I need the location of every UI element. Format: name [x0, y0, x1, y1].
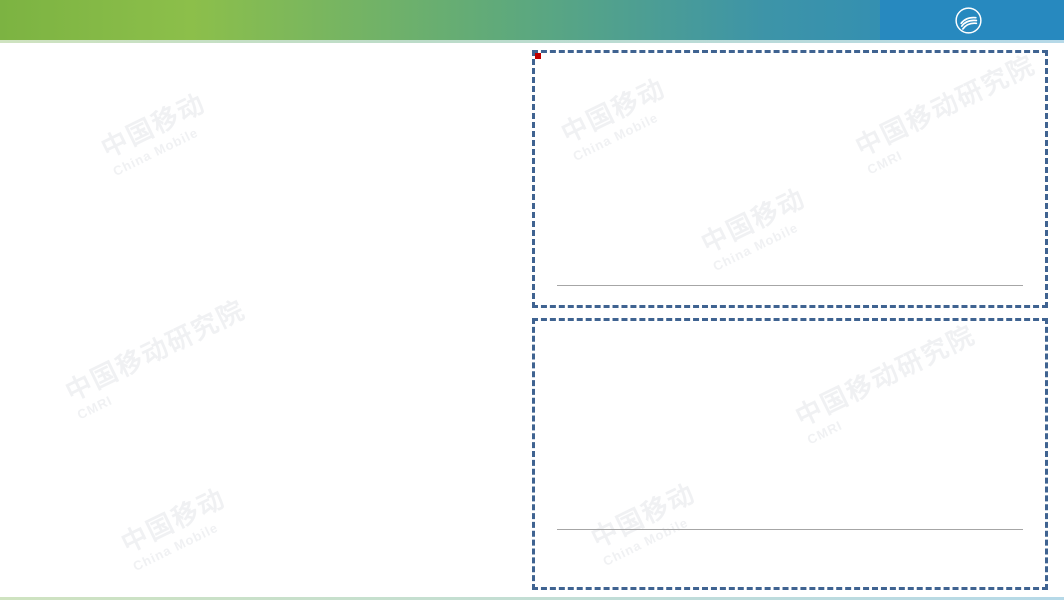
- chart-av-product-purchase: [532, 318, 1048, 590]
- brand-logo: [880, 0, 1064, 40]
- watermark: 中国移动China Mobile: [94, 83, 217, 179]
- content-column: [24, 62, 524, 78]
- china-mobile-logo-icon: [955, 7, 982, 34]
- header-accent-rule: [0, 40, 1064, 43]
- watermark: 中国移动研究院CMRI: [59, 290, 258, 423]
- chart-age-distribution: [532, 50, 1048, 308]
- chart-axis-av-product-purchase: [557, 529, 1023, 530]
- chart-bars-av-product-purchase: [557, 379, 1023, 529]
- highlight-box-26-30: [535, 53, 541, 59]
- chart-axis-age-distribution: [557, 285, 1023, 286]
- slide: 中国移动China Mobile 中国移动研究院CMRI 中国移动China M…: [0, 0, 1064, 600]
- chart-bars-age-distribution: [557, 105, 1023, 285]
- watermark: 中国移动China Mobile: [114, 478, 237, 574]
